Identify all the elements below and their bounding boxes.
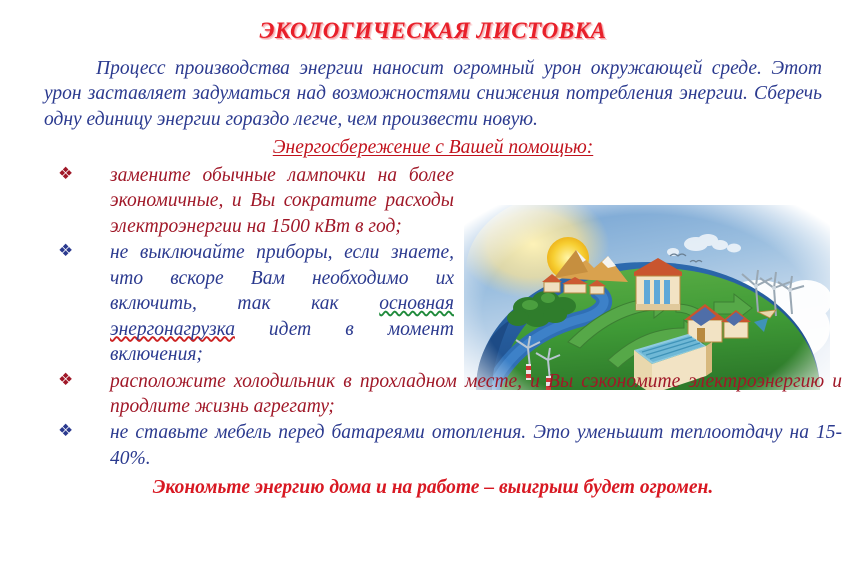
diamond-bullet-icon: ❖	[58, 164, 73, 185]
spellcheck-green-word: ос­новная	[379, 293, 454, 314]
list-item: ❖ не выключайте приборы, если знаете, чт…	[0, 240, 866, 367]
list-item-text: не ставьте мебель перед батареями отопле…	[110, 422, 842, 468]
diamond-bullet-icon: ❖	[58, 241, 73, 262]
title-container: ЭКОЛОГИЧЕСКАЯ ЛИСТОВКА	[0, 0, 866, 52]
conclusion-line: Экономьте энергию дома и на работе – выи…	[0, 477, 866, 499]
diamond-bullet-icon: ❖	[58, 421, 73, 442]
spellcheck-red-word: энергонагрузка	[110, 319, 235, 340]
list-item: ❖ расположите холодильник в прохладном м…	[0, 369, 866, 420]
subtitle-container: Энергосбережение с Вашей помощью:	[0, 137, 866, 159]
list-item: ❖ замените обычные лампочки на более эко…	[0, 163, 866, 239]
diamond-bullet-icon: ❖	[58, 370, 73, 391]
list-item-text: расположите холодильник в прохладном мес…	[110, 371, 842, 417]
list-item-text: замените обычные лампочки на более эконо…	[110, 165, 454, 237]
leaflet-page: ЭКОЛОГИЧЕСКАЯ ЛИСТОВКА Процесс производс…	[0, 0, 866, 584]
list-item: ❖ не ставьте мебель перед батареями отоп…	[0, 420, 866, 471]
subtitle: Энергосбережение с Вашей помощью:	[273, 137, 593, 159]
tips-list: ❖ замените обычные лампочки на более эко…	[0, 163, 866, 471]
intro-paragraph: Процесс производства энергии наносит огр…	[44, 56, 822, 132]
page-title: ЭКОЛОГИЧЕСКАЯ ЛИСТОВКА	[259, 18, 606, 44]
